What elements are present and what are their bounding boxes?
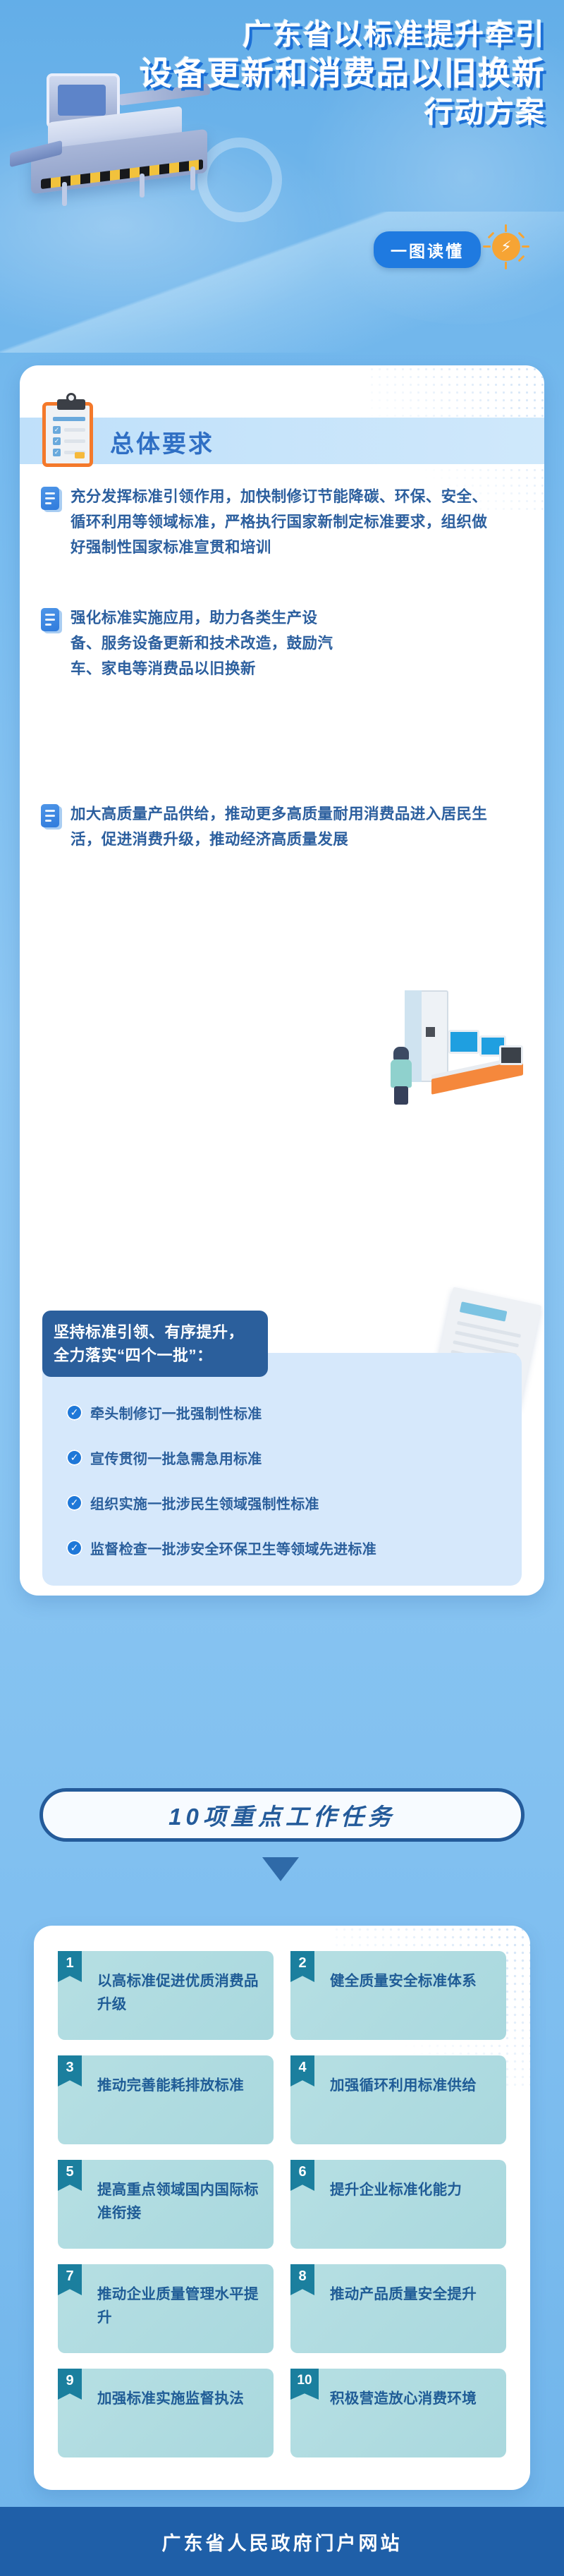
document-bullet-icon [41, 804, 62, 830]
title-line-3: 行动方案 [140, 95, 546, 131]
task-label: 提高重点领域国内国际标准衔接 [97, 2182, 259, 2221]
check-circle-icon: ✓ [66, 1540, 82, 1556]
tasks-card: 1 以高标准促进优质消费品升级 2 健全质量安全标准体系 3 推动完善能耗排放标… [34, 1926, 530, 2490]
four-batches-item[interactable]: ✓ 监督检查一批涉安全环保卫生等领域先进标准 [66, 1538, 503, 1558]
monitor [448, 1030, 479, 1054]
machine-leg [140, 174, 145, 198]
chevron-down-icon [262, 1857, 299, 1881]
task-number-badge: 4 [290, 2055, 314, 2086]
task-number-badge: 7 [58, 2264, 82, 2295]
sun-ray [483, 245, 491, 248]
task-card[interactable]: 8 推动产品质量安全提升 [290, 2264, 506, 2353]
check-circle-icon: ✓ [66, 1404, 82, 1421]
clipboard-row: ✓ [53, 439, 85, 443]
four-batches-list: ✓ 牵头制修订一批强制性标准 ✓ 宣传贯彻一批急需急用标准 ✓ 组织实施一批涉民… [66, 1402, 503, 1558]
overview-card: ✓ ✓ ✓ 总体要求 充分发挥标准引领作用，加快制修订节能降碳、环保、安全、循环… [20, 365, 544, 1596]
overview-paragraph-1-text: 充分发挥标准引领作用，加快制修订节能降碳、环保、安全、循环利用等领域标准，严格执… [70, 484, 499, 560]
machine-leg [190, 166, 195, 190]
task-card[interactable]: 2 健全质量安全标准体系 [290, 1951, 506, 2040]
page-header: 广东省以标准提升牵引 设备更新和消费品以旧换新 行动方案 一图读懂 ⚡ [0, 0, 564, 303]
four-batches-item[interactable]: ✓ 组织实施一批涉民生领域强制性标准 [66, 1493, 503, 1513]
overview-paragraph-3: 加大高质量产品供给，推动更多高质量耐用消费品进入居民生活，促进消费升级，推动经济… [41, 801, 499, 852]
clipboard-title-bar [53, 417, 85, 421]
task-label: 推动企业质量管理水平提升 [97, 2286, 259, 2326]
sun-ray [488, 232, 495, 239]
four-batches-item-label: 组织实施一批涉民生领域强制性标准 [90, 1493, 319, 1513]
task-label: 推动完善能耗排放标准 [97, 2077, 244, 2094]
lightning-glyph: ⚡ [501, 238, 511, 256]
four-batches-label: 坚持标准引领、有序提升， 全力落实“四个一批”： [42, 1311, 268, 1377]
cabinet-panel [426, 1027, 435, 1037]
overview-paragraph-1: 充分发挥标准引领作用，加快制修订节能降碳、环保、安全、循环利用等领域标准，严格执… [41, 484, 499, 560]
task-card[interactable]: 7 推动企业质量管理水平提升 [58, 2264, 274, 2353]
check-circle-icon: ✓ [66, 1450, 82, 1466]
footer-text: 广东省人民政府门户网站 [162, 2528, 403, 2556]
header-title-block: 广东省以标准提升牵引 设备更新和消费品以旧换新 行动方案 [140, 17, 546, 130]
overview-paragraph-3-text: 加大高质量产品供给，推动更多高质量耐用消费品进入居民生活，促进消费升级，推动经济… [70, 801, 499, 852]
overview-section-header: ✓ ✓ ✓ 总体要求 [20, 399, 544, 464]
task-card[interactable]: 4 加强循环利用标准供给 [290, 2055, 506, 2144]
tasks-heading-text: 10项重点工作任务 [168, 1798, 396, 1832]
document-bullet-icon [41, 608, 62, 633]
task-number-badge: 1 [58, 1951, 82, 1982]
task-label: 加强循环利用标准供给 [330, 2077, 477, 2094]
clipboard-line [64, 428, 85, 432]
sun-ray [518, 255, 525, 262]
lightning-sun-icon: ⚡ [492, 233, 520, 261]
monitor-dark [499, 1045, 523, 1065]
check-circle-icon: ✓ [66, 1495, 82, 1511]
four-batches-label-line1: 坚持标准引领、有序提升， [54, 1320, 257, 1344]
site-footer: 广东省人民政府门户网站 [0, 2507, 564, 2576]
task-number-badge: 6 [290, 2160, 314, 2191]
check-glyph: ✓ [53, 449, 61, 456]
task-card[interactable]: 6 提升企业标准化能力 [290, 2160, 506, 2249]
task-label: 推动产品质量安全提升 [330, 2286, 477, 2302]
four-batches-item-label: 监督检查一批涉安全环保卫生等领域先进标准 [90, 1538, 376, 1558]
task-number-badge: 5 [58, 2160, 82, 2191]
clipboard-accent [75, 452, 85, 458]
four-batches-item[interactable]: ✓ 宣传贯彻一批急需急用标准 [66, 1447, 503, 1468]
title-line-1: 广东省以标准提升牵引 [140, 17, 546, 54]
tasks-grid: 1 以高标准促进优质消费品升级 2 健全质量安全标准体系 3 推动完善能耗排放标… [58, 1951, 506, 2457]
task-card[interactable]: 5 提高重点领域国内国际标准衔接 [58, 2160, 274, 2249]
overview-section-title: 总体要求 [110, 425, 214, 459]
sun-ray [518, 232, 525, 239]
four-batches-item-label: 牵头制修订一批强制性标准 [90, 1402, 262, 1423]
task-card[interactable]: 1 以高标准促进优质消费品升级 [58, 1951, 274, 2040]
task-number-badge: 8 [290, 2264, 314, 2295]
title-line-2: 设备更新和消费品以旧换新 [140, 54, 546, 95]
overview-paragraph-2: 强化标准实施应用，助力各类生产设备、服务设备更新和技术改造，鼓励汽车、家电等消费… [41, 605, 344, 681]
task-label: 健全质量安全标准体系 [330, 1973, 477, 1989]
sun-ray [505, 224, 507, 232]
task-label: 积极营造放心消费环境 [330, 2390, 477, 2407]
task-card[interactable]: 9 加强标准实施监督执法 [58, 2369, 274, 2457]
four-batches-item-label: 宣传贯彻一批急需急用标准 [90, 1447, 262, 1468]
document-bullet-icon [41, 487, 62, 512]
section-header-band [20, 418, 544, 464]
task-label: 提升企业标准化能力 [330, 2182, 462, 2198]
clipboard-line [64, 439, 85, 443]
read-in-one-picture-badge[interactable]: 一图读懂 [374, 231, 481, 268]
machine-head-screen [58, 85, 106, 116]
four-batches-item[interactable]: ✓ 牵头制修订一批强制性标准 [66, 1402, 503, 1423]
task-number-badge: 10 [290, 2369, 319, 2400]
sun-ray [505, 262, 507, 269]
shopper-legs [394, 1086, 408, 1105]
task-number-badge: 2 [290, 1951, 314, 1982]
four-batches-label-line2: 全力落实“四个一批”： [54, 1344, 257, 1367]
task-card[interactable]: 3 推动完善能耗排放标准 [58, 2055, 274, 2144]
overview-paragraph-2-text: 强化标准实施应用，助力各类生产设备、服务设备更新和技术改造，鼓励汽车、家电等消费… [70, 605, 344, 681]
task-label: 以高标准促进优质消费品升级 [97, 1973, 259, 2012]
clipboard-row: ✓ [53, 428, 85, 432]
clipboard-ring [66, 393, 76, 403]
task-card[interactable]: 10 积极营造放心消费环境 [290, 2369, 506, 2457]
task-number-badge: 9 [58, 2369, 82, 2400]
sun-ray [522, 245, 529, 248]
tasks-heading-banner: 10项重点工作任务 [39, 1788, 525, 1842]
task-number-badge: 3 [58, 2055, 82, 2086]
machine-leg [62, 182, 67, 206]
check-glyph: ✓ [53, 437, 61, 445]
check-glyph: ✓ [53, 426, 61, 434]
clipboard-checklist-icon: ✓ ✓ ✓ [42, 402, 93, 467]
appliance-store-illustration [388, 986, 529, 1110]
task-label: 加强标准实施监督执法 [97, 2390, 244, 2407]
shopper-body [391, 1059, 412, 1088]
shopper-head [393, 1047, 409, 1061]
